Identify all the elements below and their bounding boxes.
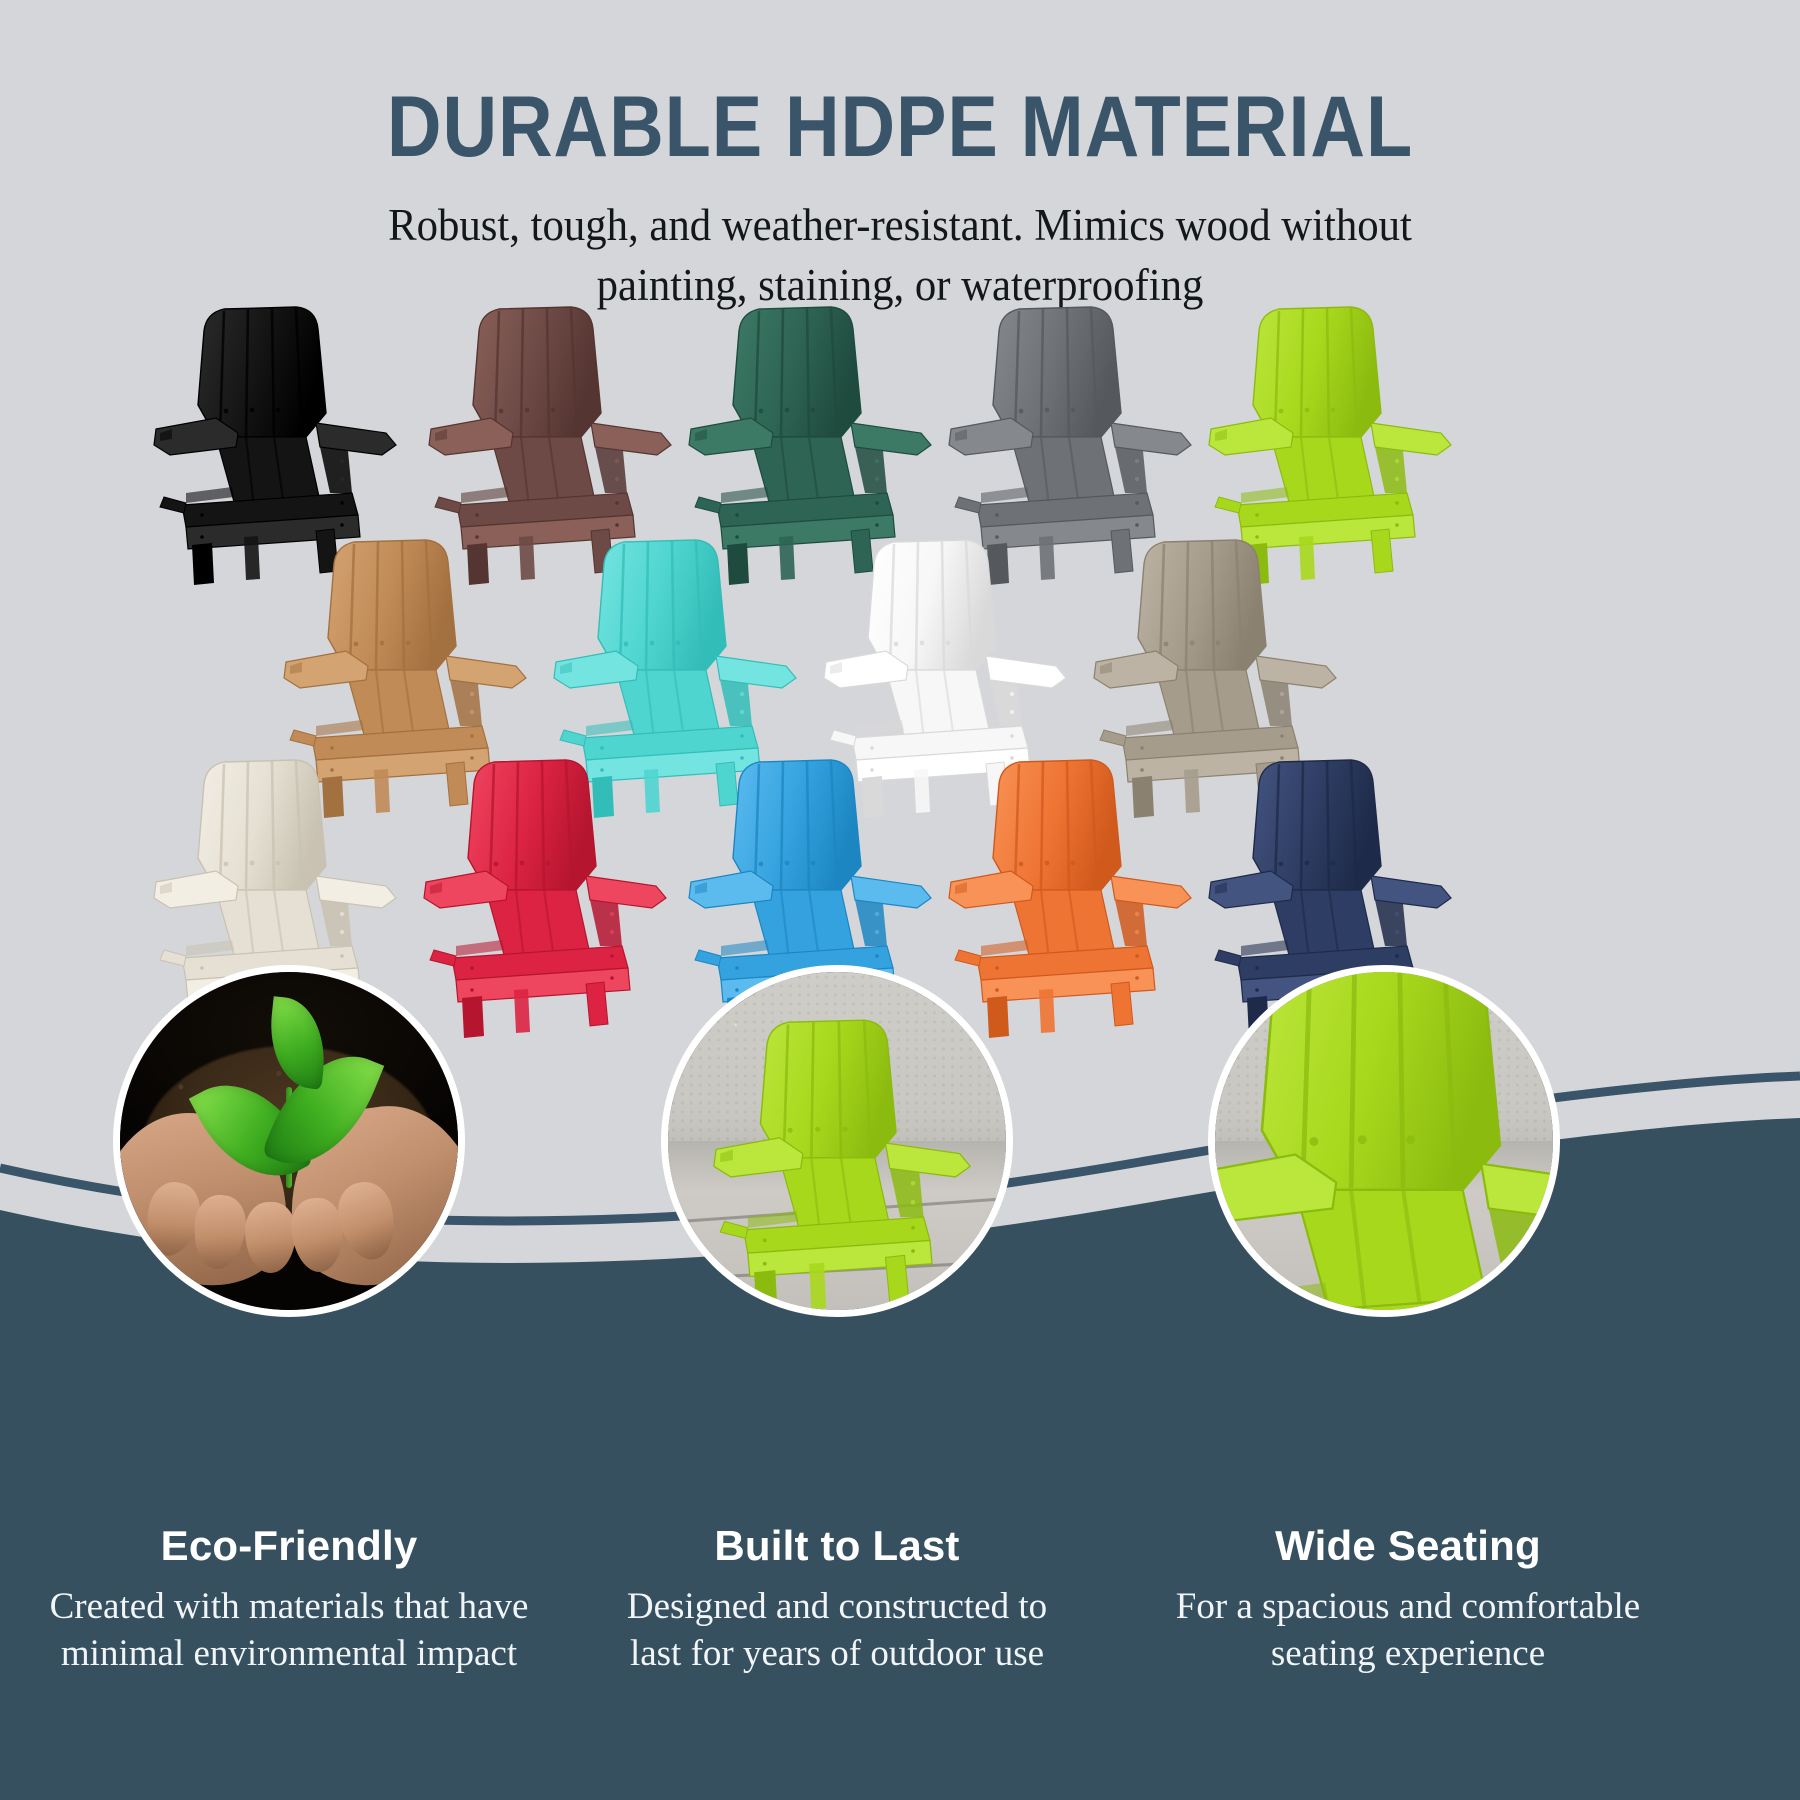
feature-body-line-2: last for years of outdoor use xyxy=(586,1631,1088,1678)
chair-back-assembly xyxy=(468,760,596,962)
chair-armrest-right xyxy=(1371,423,1451,493)
infographic-canvas: DURABLE HDPE MATERIAL Robust, tough, and… xyxy=(0,0,1800,1800)
chair-armrest-right xyxy=(986,656,1066,726)
chair-back-assembly xyxy=(1253,760,1381,962)
chair-armrest-right xyxy=(1371,876,1451,946)
feature-caption-eco-friendly: Eco-Friendly Created with materials that… xyxy=(38,1522,540,1677)
feature-body-line-1: Created with materials that have xyxy=(38,1584,540,1631)
chair-armrest-right xyxy=(446,656,526,726)
feature-body: Created with materials that have minimal… xyxy=(38,1584,540,1677)
feature-title: Wide Seating xyxy=(1058,1522,1758,1570)
feature-title: Eco-Friendly xyxy=(38,1522,540,1570)
chair-back-assembly xyxy=(1253,307,1381,509)
chair-back-assembly xyxy=(1138,540,1266,742)
chair-back-assembly xyxy=(598,540,726,742)
feature-image-built-to-last xyxy=(661,965,1013,1317)
chair-back-assembly xyxy=(733,760,861,962)
feature-caption-built-to-last: Built to Last Designed and constructed t… xyxy=(586,1522,1088,1677)
lifestyle-chair-closeup xyxy=(1208,965,1560,1317)
chair-armrest-right xyxy=(316,876,396,946)
chair-back-assembly xyxy=(198,307,326,509)
feature-title: Built to Last xyxy=(586,1522,1088,1570)
chair-armrest-right xyxy=(1481,1164,1560,1294)
chair-back-assembly xyxy=(198,760,326,962)
chair-back-assembly xyxy=(993,307,1121,509)
chair-back-assembly xyxy=(761,1020,897,1234)
chair-armrest-right xyxy=(316,423,396,493)
feature-body-line-2: seating experience xyxy=(1058,1631,1758,1678)
feature-body: Designed and constructed to last for yea… xyxy=(586,1584,1088,1677)
chair-back-assembly xyxy=(993,760,1121,962)
chair-armrest-right xyxy=(886,1143,971,1217)
feature-body: For a spacious and comfortable seating e… xyxy=(1058,1584,1758,1677)
feature-image-wide-seating xyxy=(1208,965,1560,1317)
feature-caption-wide-seating: Wide Seating For a spacious and comforta… xyxy=(1058,1522,1758,1677)
chair-back-assembly xyxy=(328,540,456,742)
chair-back-assembly xyxy=(733,307,861,509)
lifestyle-chair-patio xyxy=(661,999,1013,1317)
chair-armrest-right xyxy=(1256,656,1336,726)
chair-armrest-right xyxy=(716,656,796,726)
chair-armrest-right xyxy=(586,876,666,946)
chair-back-assembly xyxy=(868,540,996,742)
chair-back-assembly xyxy=(1262,965,1500,1317)
chair-back-assembly xyxy=(473,307,601,509)
feature-body-line-1: Designed and constructed to xyxy=(586,1584,1088,1631)
feature-body-line-2: minimal environmental impact xyxy=(38,1631,540,1678)
feature-image-eco-friendly xyxy=(113,965,465,1317)
feature-body-line-1: For a spacious and comfortable xyxy=(1058,1584,1758,1631)
